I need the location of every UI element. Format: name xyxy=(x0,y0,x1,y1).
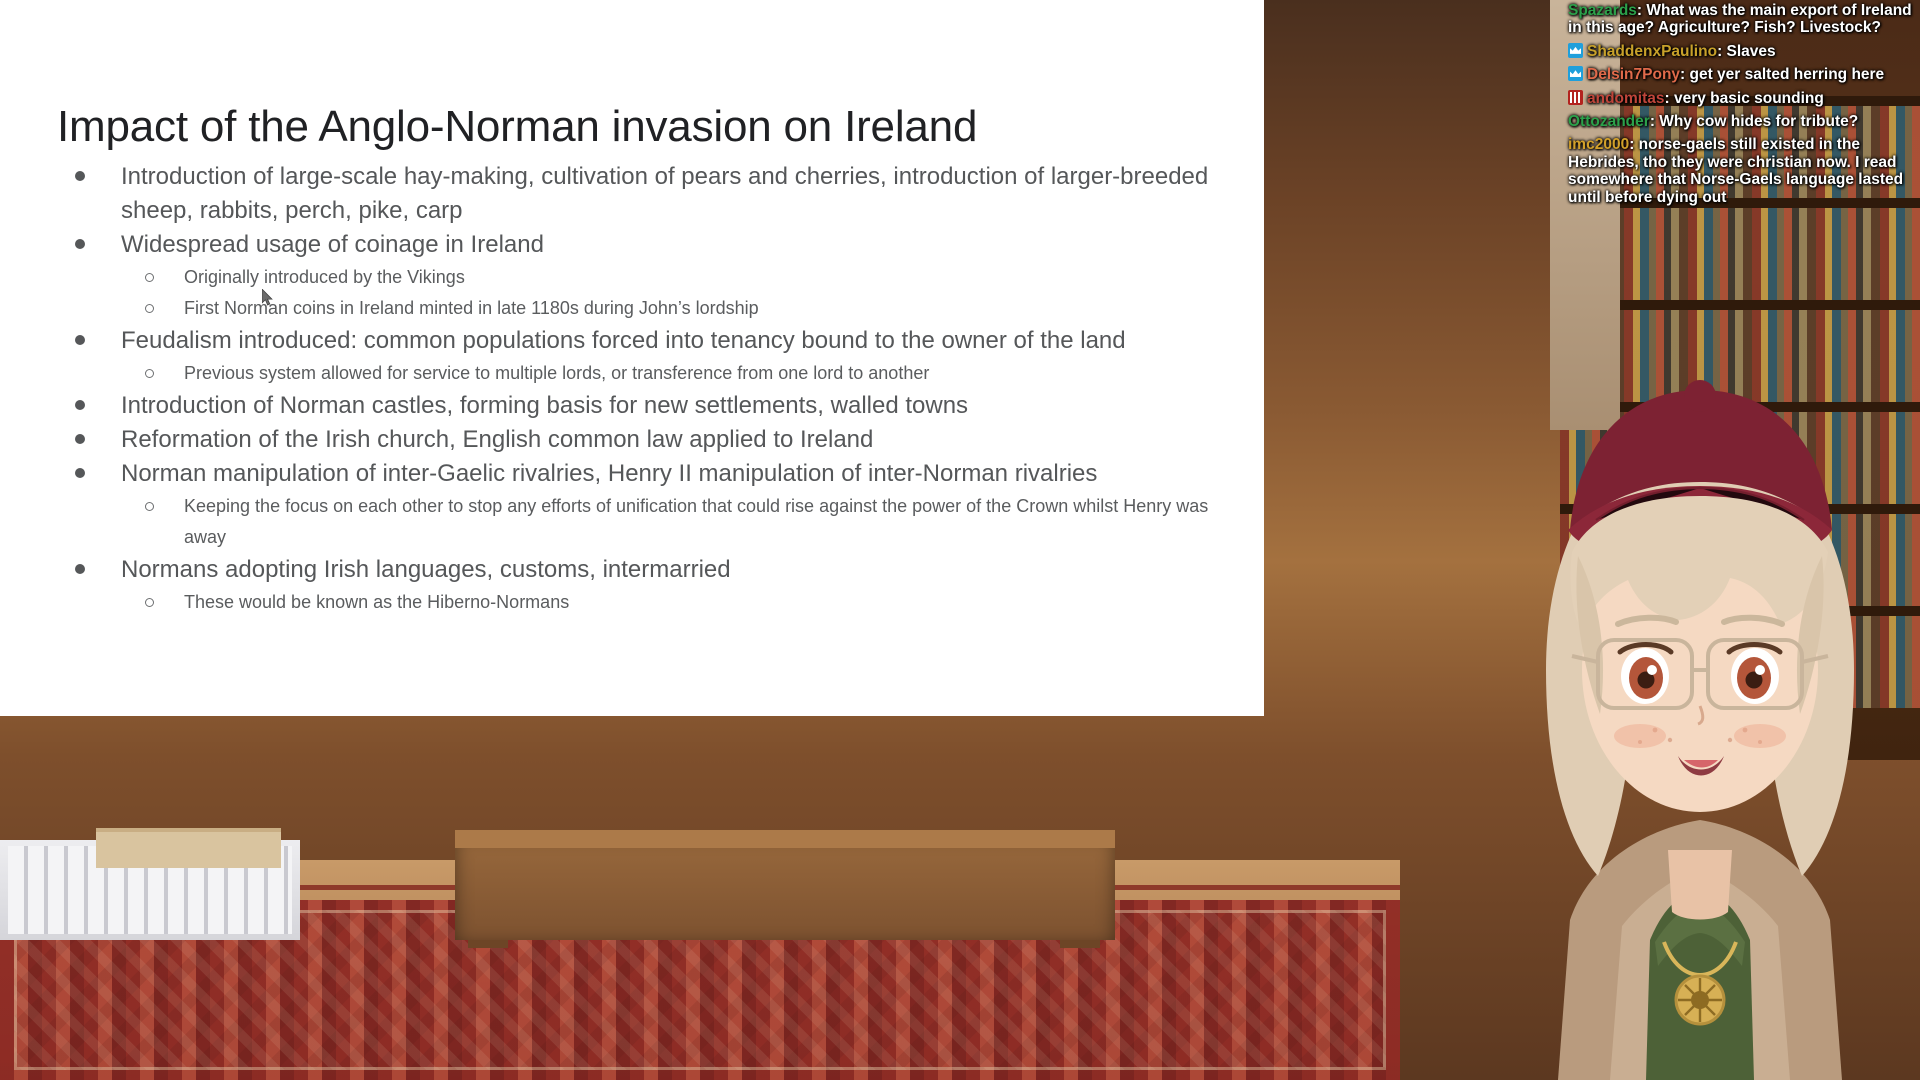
chat-username[interactable]: Ottozander xyxy=(1568,113,1650,130)
bullet-item: Feudalism introduced: common populations… xyxy=(57,324,1247,389)
chat-text: get yer salted herring here xyxy=(1690,66,1885,83)
slide-body: Introduction of large-scale hay-making, … xyxy=(57,160,1247,618)
sub-bullet-item: Keeping the focus on each other to stop … xyxy=(121,491,1247,553)
chat-overlay: Spazards: What was the main export of Ir… xyxy=(1562,0,1920,212)
chat-username[interactable]: ShaddenxPaulino xyxy=(1587,43,1717,60)
cardboard-box xyxy=(96,828,281,868)
bullet-text: Reformation of the Irish church, English… xyxy=(121,423,1247,457)
bullet-item: Widespread usage of coinage in IrelandOr… xyxy=(57,228,1247,324)
sub-bullet-text: First Norman coins in Ireland minted in … xyxy=(184,293,1247,324)
bullet-dot-icon xyxy=(75,468,85,478)
chat-colon: : xyxy=(1629,136,1638,153)
bullet-dot-icon xyxy=(75,171,85,181)
sub-bullet-circle-icon xyxy=(145,273,154,282)
sub-bullet-circle-icon xyxy=(145,369,154,378)
bullet-text: Feudalism introduced: common populations… xyxy=(121,324,1247,358)
chat-message: Delsin7Pony: get yer salted herring here xyxy=(1568,66,1914,83)
sub-bullet-circle-icon xyxy=(145,598,154,607)
chat-username[interactable]: andomitas xyxy=(1587,90,1665,107)
bullet-text: Widespread usage of coinage in Ireland xyxy=(121,228,1247,262)
chat-text: Why cow hides for tribute? xyxy=(1659,113,1858,130)
sub-bullet-text: These would be known as the Hiberno-Norm… xyxy=(184,587,1247,618)
chat-colon: : xyxy=(1680,66,1689,83)
wooden-desk xyxy=(455,830,1115,940)
chat-message: imc2000: norse-gaels still existed in th… xyxy=(1568,136,1914,206)
sub-bullet-item: These would be known as the Hiberno-Norm… xyxy=(121,587,1247,618)
bullet-list: Introduction of large-scale hay-making, … xyxy=(57,160,1247,618)
presentation-slide[interactable]: Impact of the Anglo-Norman invasion on I… xyxy=(0,0,1264,716)
sub-bullet-item: Previous system allowed for service to m… xyxy=(121,358,1247,389)
bullet-item: Introduction of Norman castles, forming … xyxy=(57,389,1247,423)
bullet-item: Normans adopting Irish languages, custom… xyxy=(57,553,1247,618)
chat-colon: : xyxy=(1650,113,1659,130)
bullet-item: Reformation of the Irish church, English… xyxy=(57,423,1247,457)
sub-bullet-item: Originally introduced by the Vikings xyxy=(121,262,1247,293)
chat-message: Spazards: What was the main export of Ir… xyxy=(1568,2,1914,37)
subscriber-icon xyxy=(1568,66,1583,81)
sub-bullet-text: Keeping the focus on each other to stop … xyxy=(184,491,1247,553)
sub-bullet-list: Keeping the focus on each other to stop … xyxy=(121,491,1247,553)
bullet-dot-icon xyxy=(75,564,85,574)
bullet-dot-icon xyxy=(75,239,85,249)
sub-bullet-list: Previous system allowed for service to m… xyxy=(121,358,1247,389)
chat-colon: : xyxy=(1665,90,1674,107)
bullet-text: Norman manipulation of inter-Gaelic riva… xyxy=(121,457,1247,491)
slide-title: Impact of the Anglo-Norman invasion on I… xyxy=(57,101,1177,152)
bullet-text: Introduction of large-scale hay-making, … xyxy=(121,160,1247,228)
sub-bullet-list: Originally introduced by the VikingsFirs… xyxy=(121,262,1247,324)
chat-message: Ottozander: Why cow hides for tribute? xyxy=(1568,113,1914,130)
bullet-dot-icon xyxy=(75,400,85,410)
chat-username[interactable]: imc2000 xyxy=(1568,136,1629,153)
bullet-text: Normans adopting Irish languages, custom… xyxy=(121,553,1247,587)
chat-username[interactable]: Delsin7Pony xyxy=(1587,66,1680,83)
sub-bullet-circle-icon xyxy=(145,304,154,313)
chat-text: very basic sounding xyxy=(1674,90,1824,107)
chat-username[interactable]: Spazards xyxy=(1568,2,1637,19)
chat-text: Slaves xyxy=(1727,43,1776,60)
sub-bullet-text: Originally introduced by the Vikings xyxy=(184,262,1247,293)
sub-bullet-item: First Norman coins in Ireland minted in … xyxy=(121,293,1247,324)
sub-bullet-list: These would be known as the Hiberno-Norm… xyxy=(121,587,1247,618)
sub-bullet-circle-icon xyxy=(145,502,154,511)
bullet-dot-icon xyxy=(75,335,85,345)
bullet-item: Norman manipulation of inter-Gaelic riva… xyxy=(57,457,1247,553)
bullet-text: Introduction of Norman castles, forming … xyxy=(121,389,1247,423)
bullet-dot-icon xyxy=(75,434,85,444)
chat-message: ShaddenxPaulino: Slaves xyxy=(1568,43,1914,60)
bullet-item: Introduction of large-scale hay-making, … xyxy=(57,160,1247,228)
chat-colon: : xyxy=(1637,2,1646,19)
verified-icon xyxy=(1568,90,1583,105)
chat-colon: : xyxy=(1717,43,1726,60)
sub-bullet-text: Previous system allowed for service to m… xyxy=(184,358,1247,389)
chat-message: andomitas: very basic sounding xyxy=(1568,90,1914,107)
subscriber-icon xyxy=(1568,43,1583,58)
